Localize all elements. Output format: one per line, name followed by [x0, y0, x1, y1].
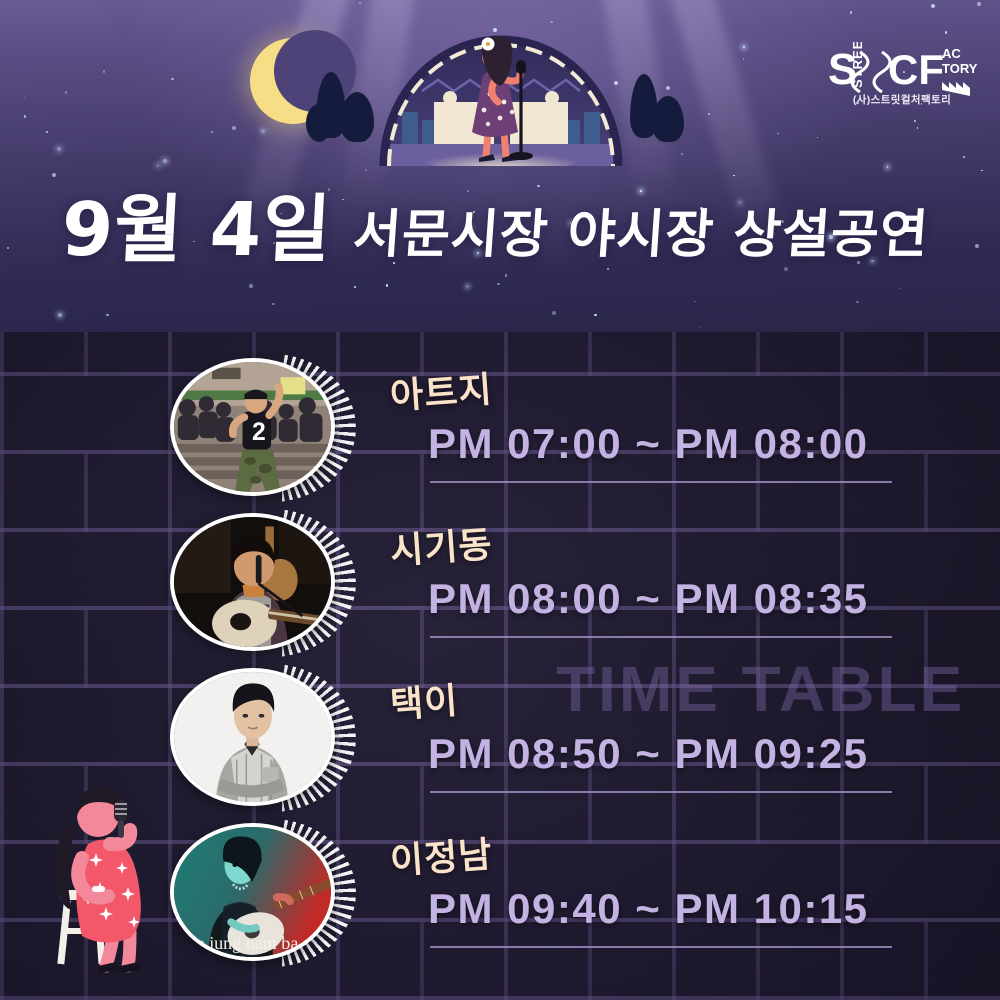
star — [945, 31, 948, 34]
star — [106, 314, 109, 317]
artist-photo — [170, 668, 335, 806]
star — [354, 286, 356, 288]
star — [856, 301, 859, 304]
star — [550, 21, 553, 24]
star — [594, 314, 597, 317]
star — [899, 288, 901, 290]
star — [850, 11, 853, 14]
artist-photo — [170, 513, 335, 651]
artist-time: PM 08:50 ~ PM 09:25 — [428, 730, 869, 778]
star — [46, 131, 49, 134]
star — [917, 127, 919, 129]
star — [467, 286, 469, 288]
star — [931, 4, 935, 8]
star — [666, 86, 670, 90]
artist-info: 이정남 PM 09:40 ~ PM 10:15 — [382, 813, 912, 963]
row-divider — [430, 791, 892, 793]
artist-name: 택이 — [388, 672, 460, 729]
star — [272, 303, 275, 306]
star — [24, 97, 26, 99]
star — [777, 133, 779, 135]
event-subtitle: 서문시장 야시장 상설공연 — [351, 192, 932, 267]
star — [58, 313, 62, 317]
artist-photo-wrap: lee jung nam ba — [170, 823, 352, 963]
star — [57, 147, 61, 151]
artist-photo: lee jung nam ba — [170, 823, 335, 961]
star — [103, 70, 106, 73]
artist-name: 아트지 — [388, 360, 494, 419]
artist-info: 택이 PM 08:50 ~ PM 09:25 — [382, 658, 912, 808]
star — [699, 327, 701, 329]
tree-silhouette — [306, 104, 332, 142]
timetable-row: 2 아트지 PM 07:00 ~ PM 08:00 — [0, 348, 1000, 503]
logo-word-tory: TORY — [942, 61, 978, 76]
star — [24, 115, 27, 118]
logo-korean-name: (사)스트릿컬처팩토리 — [826, 92, 978, 107]
star — [65, 91, 68, 94]
headline-block: 9월 4일 서문시장 야시장 상설공연 — [0, 168, 1000, 278]
star — [157, 165, 159, 167]
artist-name: 이정남 — [388, 825, 494, 884]
scf-logo: S STREET CF AC TORY (사)스트릿컬처팩토리 — [826, 42, 978, 104]
timetable-row: 시기동 PM 08:00 ~ PM 08:35 — [0, 503, 1000, 658]
artist-name: 시기동 — [388, 515, 494, 574]
star — [743, 58, 745, 60]
artist-info: 아트지 PM 07:00 ~ PM 08:00 — [382, 348, 912, 498]
artist-time: PM 08:00 ~ PM 08:35 — [428, 575, 869, 623]
star — [708, 113, 710, 115]
artist-photo: 2 — [170, 358, 335, 496]
logo-word-ac: AC — [942, 46, 961, 61]
star — [211, 131, 214, 134]
star — [977, 2, 981, 6]
star — [386, 284, 389, 287]
row-divider — [430, 946, 892, 948]
row-divider — [430, 481, 892, 483]
poster-root: S STREET CF AC TORY (사)스트릿컬처팩토리 9월 4일 서문… — [0, 0, 1000, 1000]
photo-caption: lee jung nam ba — [184, 933, 299, 953]
artist-time: PM 07:00 ~ PM 08:00 — [428, 420, 869, 468]
seated-singer-illustration — [36, 782, 186, 1000]
artist-time: PM 09:40 ~ PM 10:15 — [428, 885, 869, 933]
star — [261, 129, 265, 133]
star — [963, 156, 965, 158]
star — [497, 283, 500, 286]
tree-silhouette — [652, 96, 684, 142]
star — [249, 284, 253, 288]
star — [171, 78, 174, 81]
star — [232, 126, 236, 130]
star — [817, 137, 819, 139]
artist-info: 시기동 PM 08:00 ~ PM 08:35 — [382, 503, 912, 653]
artist-photo-wrap: 2 — [170, 358, 352, 498]
svg-text:2: 2 — [252, 419, 266, 446]
star — [743, 46, 745, 48]
night-sky-background: S STREET CF AC TORY (사)스트릿컬처팩토리 — [0, 0, 1000, 332]
star — [914, 120, 917, 123]
star — [681, 153, 683, 155]
artist-photo-wrap — [170, 668, 352, 808]
artist-photo-wrap — [170, 513, 352, 653]
star — [163, 159, 167, 163]
logo-letters-cf: CF — [888, 46, 944, 93]
row-divider — [430, 636, 892, 638]
star — [359, 2, 361, 4]
star — [694, 301, 696, 303]
scf-logo-mark: S STREET CF AC TORY — [826, 42, 978, 98]
stage-dome-illustration — [378, 28, 624, 168]
star — [552, 311, 556, 315]
event-date: 9월 4일 — [59, 170, 335, 277]
